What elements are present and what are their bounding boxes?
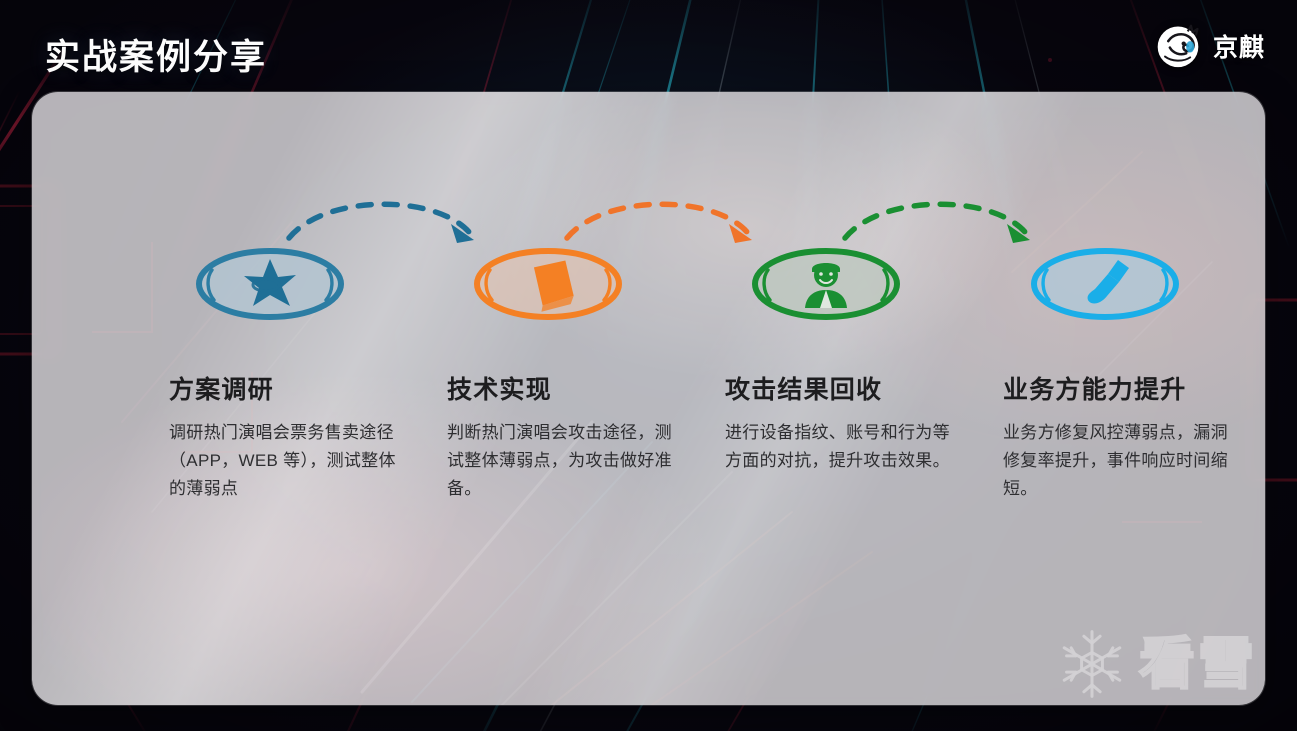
step-1-description: 调研热门演唱会票务售卖途径（APP，WEB 等），测试整体的薄弱点: [169, 419, 411, 503]
step-2-badge: [464, 242, 632, 326]
step-3-badge: [742, 242, 910, 326]
page-title: 实战案例分享: [45, 29, 267, 80]
step-2-title: 技术实现: [447, 370, 552, 406]
brand-name: 京麒: [1213, 28, 1265, 64]
step-1-title: 方案调研: [169, 370, 274, 406]
step-4-badge: [1021, 242, 1189, 326]
step-1-badge: [186, 242, 354, 326]
step-4-description: 业务方修复风控薄弱点，漏洞修复率提升，事件响应时间缩短。: [1003, 419, 1245, 503]
process-steps: 方案调研 调研热门演唱会票务售卖途径（APP，WEB 等），测试整体的薄弱点: [32, 92, 1265, 705]
slide-canvas: 实战案例分享 京麒: [0, 0, 1297, 731]
step-3-title: 攻击结果回收: [725, 370, 882, 406]
connector-3: [841, 188, 1037, 250]
connector-2: [563, 188, 759, 250]
step-3-description: 进行设备指纹、账号和行为等方面的对抗，提升攻击效果。: [725, 419, 967, 475]
qilin-mascot-icon: [1152, 20, 1204, 72]
step-4-title: 业务方能力提升: [1003, 370, 1186, 406]
slide-header: 实战案例分享 京麒: [0, 0, 1297, 92]
connector-1: [285, 188, 481, 250]
brand-logo: 京麒: [1152, 20, 1265, 72]
content-panel: 方案调研 调研热门演唱会票务售卖途径（APP，WEB 等），测试整体的薄弱点: [32, 92, 1265, 705]
step-2-description: 判断热门演唱会攻击途径，测试整体薄弱点，为攻击做好准备。: [447, 419, 689, 503]
